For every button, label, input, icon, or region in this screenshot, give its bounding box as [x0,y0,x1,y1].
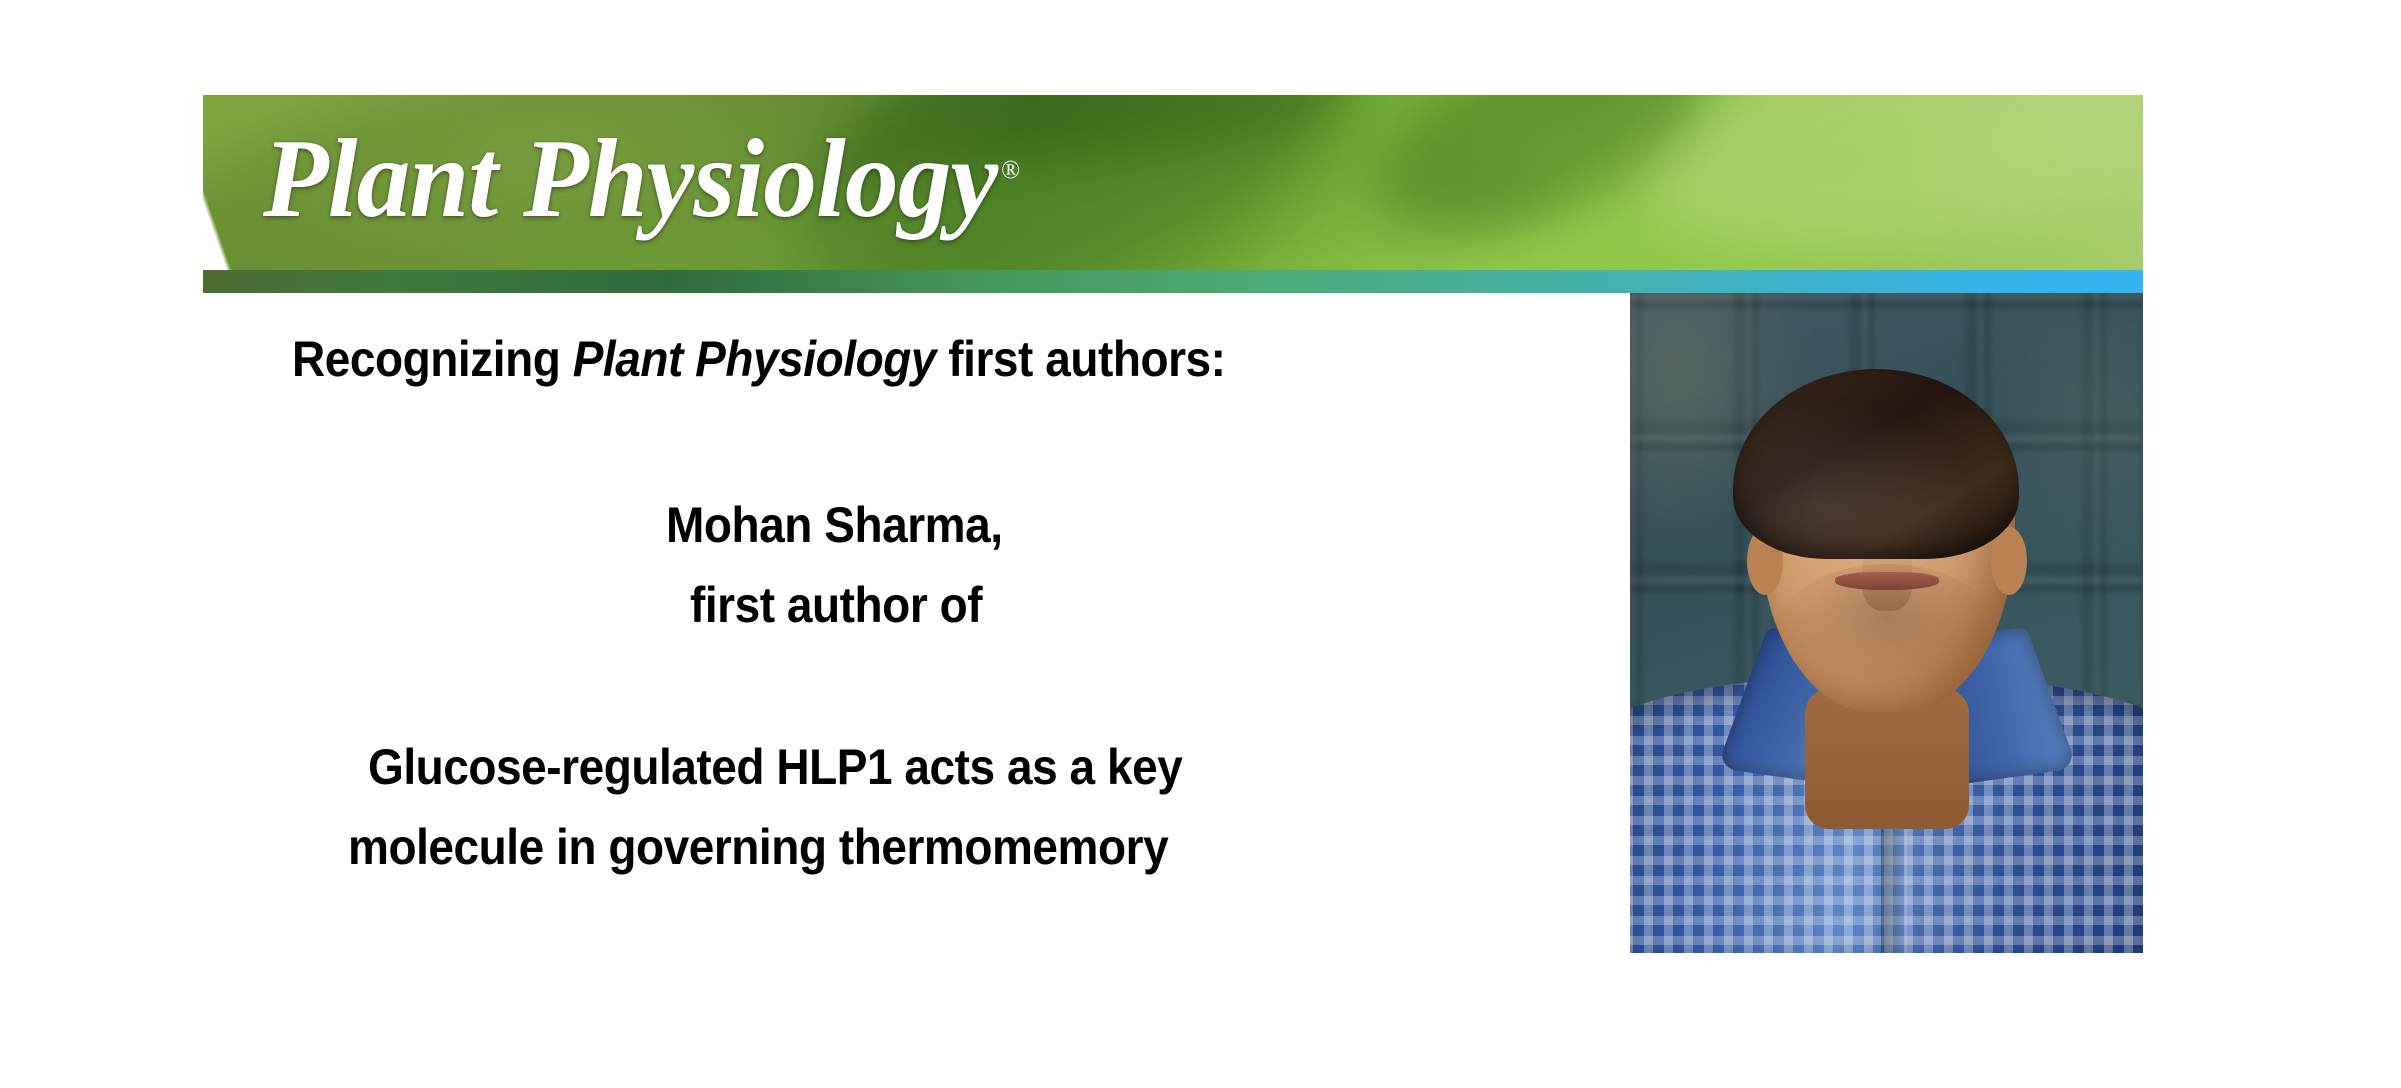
leaf-texture-streak [1195,95,2004,270]
recognition-heading-suffix: first authors: [936,331,1226,387]
recognition-heading: Recognizing Plant Physiology first autho… [292,334,1226,384]
leaf-texture-streak [1350,95,1733,270]
leaf-texture-streak [1625,95,2143,270]
recognition-heading-journal: Plant Physiology [573,331,936,387]
journal-wordmark: Plant Physiology® [263,117,1019,242]
recognition-heading-prefix: Recognizing [292,331,573,387]
registered-trademark-icon: ® [1001,155,1019,184]
author-headshot-photo [1630,293,2143,953]
banner-corner-notch [203,186,231,270]
author-name: Mohan Sharma, [666,500,1003,550]
masthead-accent-bar [203,270,2143,293]
article-title-line-1: Glucose-regulated HLP1 acts as a key [368,742,1182,792]
author-role: first author of [690,580,982,630]
article-title-line-2: molecule in governing thermomemory [348,822,1168,872]
journal-wordmark-text: Plant Physiology [263,117,997,241]
subject-mouth [1835,572,1939,590]
journal-masthead-banner: Plant Physiology® [203,95,2143,270]
